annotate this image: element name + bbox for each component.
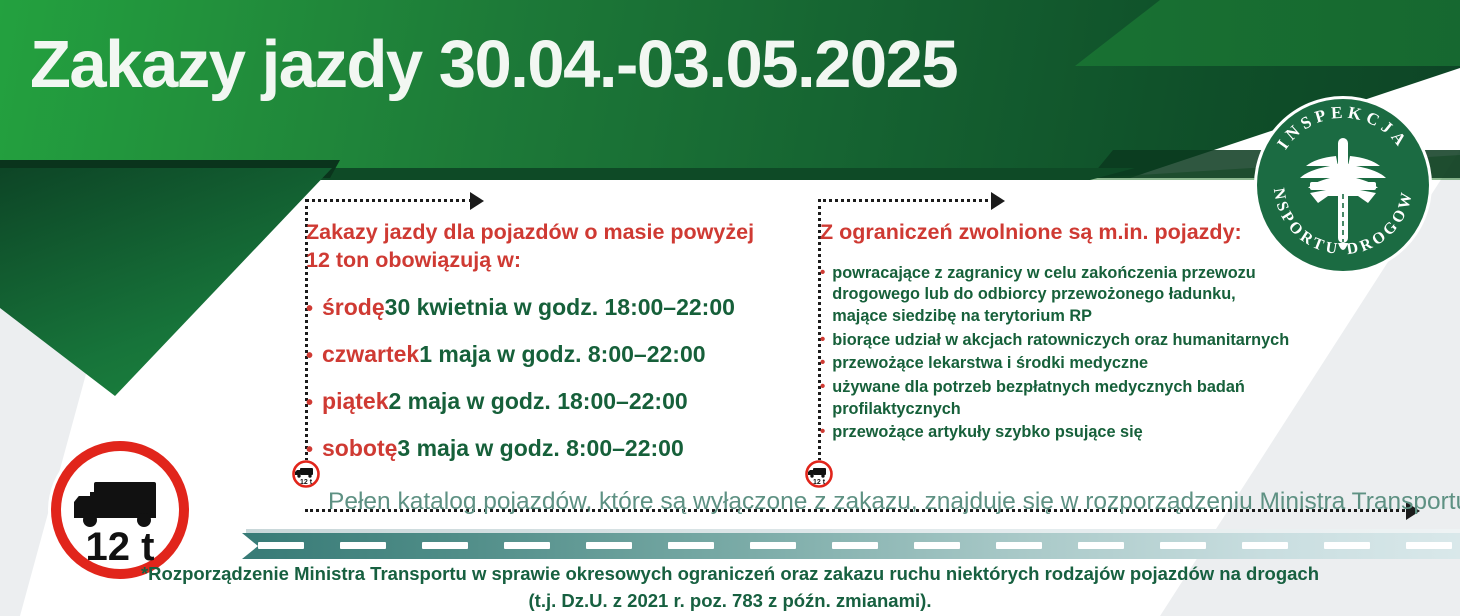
road-dash — [340, 542, 386, 549]
ban-time: 3 maja w godz. 8:00–22:00 — [397, 435, 683, 461]
road-dash — [750, 542, 796, 549]
svg-text:12 t: 12 t — [813, 479, 826, 486]
road-dash — [668, 542, 714, 549]
ban-time: 30 kwietnia w godz. 18:00–22:00 — [385, 294, 735, 320]
infographic-root: Zakazy jazdy 30.04.-03.05.2025 INSPEKCJA… — [0, 0, 1460, 616]
left-info-column: Zakazy jazdy dla pojazdów o masie powyże… — [306, 219, 776, 482]
list-item: • przewożące artykuły szybko psujące się — [820, 422, 1290, 444]
list-item: • używane dla potrzeb bezpłatnych medycz… — [820, 377, 1290, 420]
road-dash — [1324, 542, 1370, 549]
road-dash — [1242, 542, 1288, 549]
right-arrowhead-icon — [991, 192, 1005, 210]
header-banner: Zakazy jazdy 30.04.-03.05.2025 — [0, 0, 1460, 180]
bullet-icon: • — [820, 377, 825, 397]
page-title: Zakazy jazdy 30.04.-03.05.2025 — [30, 26, 957, 103]
road-dash — [586, 542, 632, 549]
road-dash — [1406, 542, 1452, 549]
list-item: • powracające z zagranicy w celu zakończ… — [820, 263, 1290, 328]
road-dash — [1160, 542, 1206, 549]
driving-ban-list: • środę30 kwietnia w godz. 18:00–22:00 •… — [306, 294, 776, 462]
footnote-line-2: (t.j. Dz.U. z 2021 r. poz. 783 z późn. z… — [0, 590, 1460, 612]
bullet-icon: • — [306, 298, 313, 321]
road-dash — [914, 542, 960, 549]
ban-day: sobotę — [322, 435, 397, 461]
bullet-icon: • — [820, 353, 825, 373]
exemptions-list: • powracające z zagranicy w celu zakończ… — [820, 263, 1290, 444]
list-item: • czwartek1 maja w godz. 8:00–22:00 — [306, 341, 776, 368]
ban-day: czwartek — [322, 341, 419, 367]
ban-day: piątek — [322, 388, 388, 414]
road-dash — [258, 542, 304, 549]
mini-12t-sign-right: 12 t — [804, 459, 834, 489]
bullet-icon: • — [306, 345, 313, 368]
list-item: • sobotę3 maja w godz. 8:00–22:00 — [306, 435, 776, 462]
bullet-icon: • — [820, 422, 825, 442]
right-column-heading: Z ograniczeń zwolnione są m.in. pojazdy: — [820, 219, 1290, 247]
catalog-caption: Pełen katalog pojazdów, które są wyłączo… — [328, 488, 1460, 516]
road-dash — [422, 542, 468, 549]
ban-time: 2 maja w godz. 18:00–22:00 — [389, 388, 688, 414]
exemption-text: powracające z zagranicy w celu zakończen… — [832, 263, 1290, 328]
right-dotted-top-line — [818, 199, 994, 202]
exemption-text: przewożące artykuły szybko psujące się — [832, 422, 1142, 444]
list-item: • piątek2 maja w godz. 18:00–22:00 — [306, 388, 776, 415]
exemption-text: biorące udział w akcjach ratowniczych or… — [832, 330, 1289, 352]
road-dash — [1078, 542, 1124, 549]
left-column-heading: Zakazy jazdy dla pojazdów o masie powyże… — [306, 219, 776, 274]
bullet-icon: • — [820, 330, 825, 350]
bullet-icon: • — [306, 439, 313, 462]
road-dash — [832, 542, 878, 549]
exemption-text: przewożące lekarstwa i środki medyczne — [832, 353, 1148, 375]
footnote-line-1: *Rozporządzenie Ministra Transportu w sp… — [0, 563, 1460, 585]
bullet-icon: • — [820, 263, 825, 283]
bullet-icon: • — [306, 392, 313, 415]
right-info-column: Z ograniczeń zwolnione są m.in. pojazdy:… — [820, 219, 1290, 446]
left-dotted-top-line — [305, 199, 473, 202]
left-arrowhead-icon — [470, 192, 484, 210]
list-item: • przewożące lekarstwa i środki medyczne — [820, 353, 1290, 375]
ban-time: 1 maja w godz. 8:00–22:00 — [419, 341, 705, 367]
no-trucks-over-12t-sign: 12 t — [46, 436, 194, 584]
list-item: • biorące udział w akcjach ratowniczych … — [820, 330, 1290, 352]
road-dash — [504, 542, 550, 549]
list-item: • środę30 kwietnia w godz. 18:00–22:00 — [306, 294, 776, 321]
exemption-text: używane dla potrzeb bezpłatnych medyczny… — [832, 377, 1290, 420]
ban-day: środę — [322, 294, 385, 320]
road-dash — [996, 542, 1042, 549]
